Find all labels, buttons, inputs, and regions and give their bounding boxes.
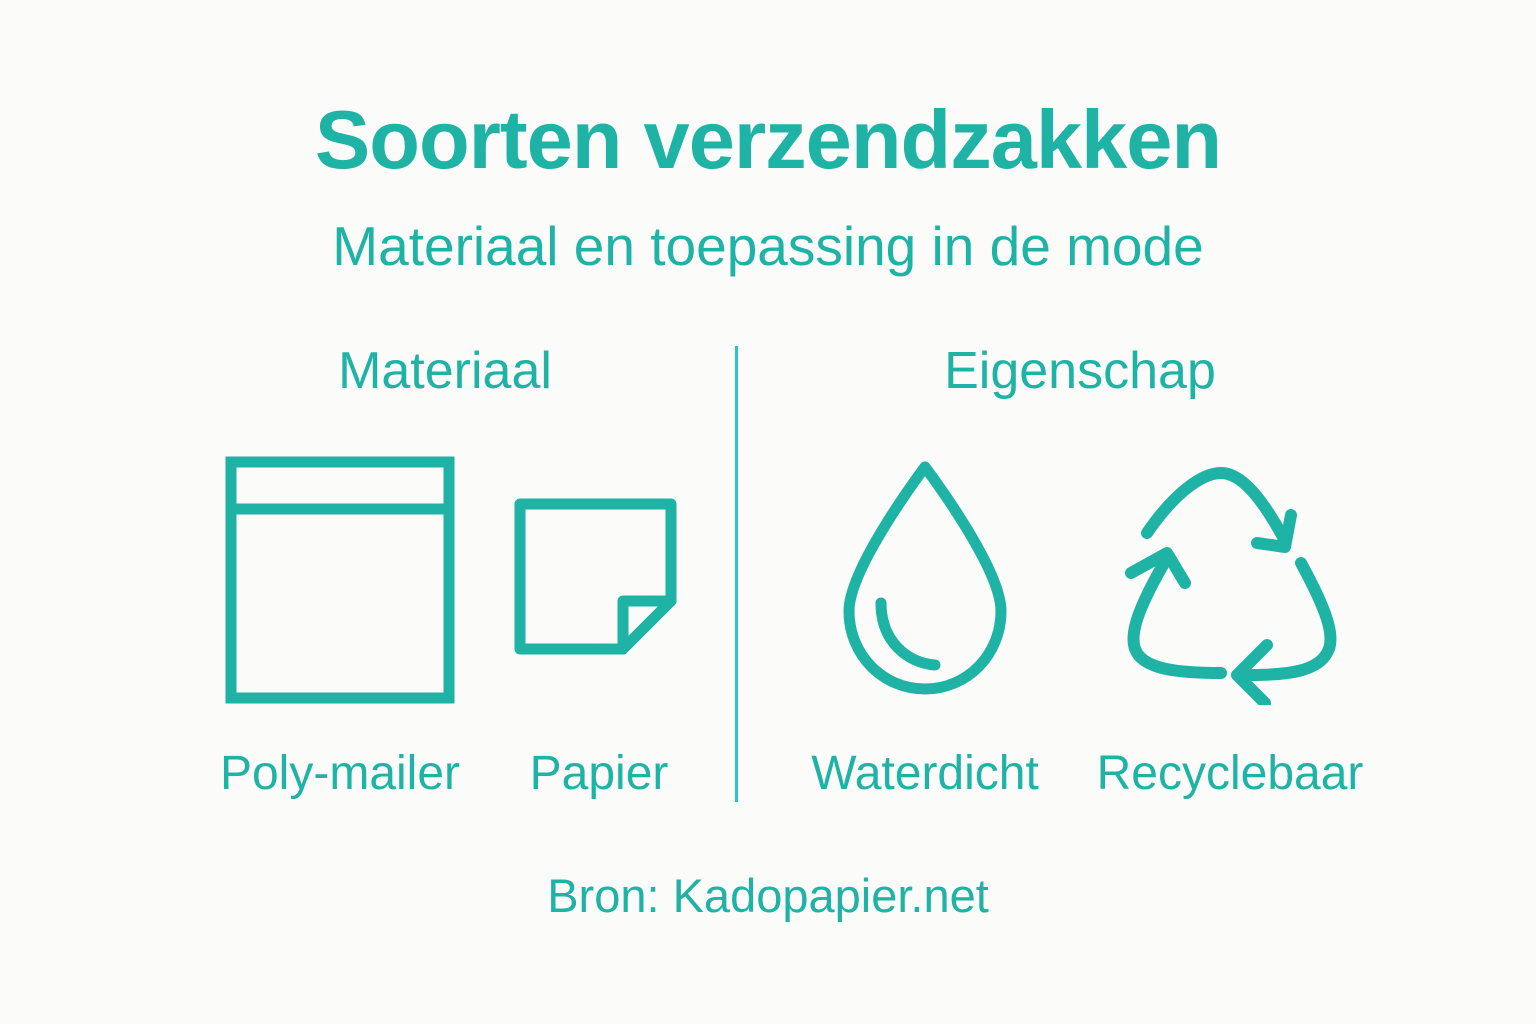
item-label-papier: Papier [492,748,706,801]
source-attribution: Bron: Kadopapier.net [0,870,1536,922]
column-divider [735,346,738,802]
column-header-eigenschap: Eigenschap [800,342,1360,402]
item-recyclebaar: Recyclebaar [1060,455,1400,801]
recycle-icon [1060,455,1400,710]
item-papier: Papier [492,455,706,801]
poly-mailer-icon [185,455,495,710]
item-waterdicht: Waterdicht [785,455,1065,801]
infographic-canvas: Soorten verzendzakken Materiaal en toepa… [0,0,1536,1024]
item-label-recyclebaar: Recyclebaar [1060,748,1400,801]
item-poly-mailer: Poly-mailer [185,455,495,801]
page-title: Soorten verzendzakken [0,96,1536,183]
paper-sheet-icon [492,455,706,710]
item-label-poly-mailer: Poly-mailer [185,748,495,801]
column-header-materiaal: Materiaal [175,342,715,402]
water-drop-icon [785,455,1065,710]
page-subtitle: Materiaal en toepassing in de mode [0,216,1536,277]
item-label-waterdicht: Waterdicht [785,748,1065,801]
